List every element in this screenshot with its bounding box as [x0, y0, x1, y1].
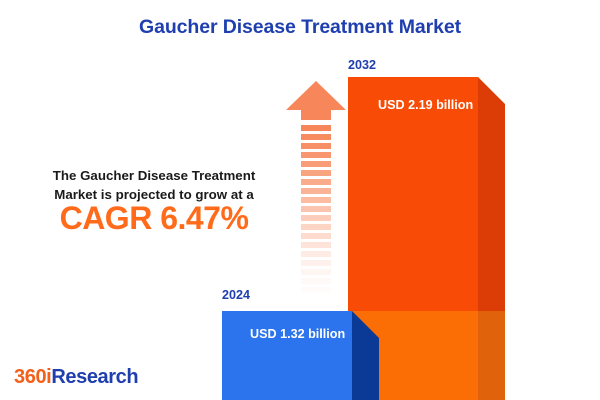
bar-2024 [222, 311, 394, 400]
bar-value-2024: USD 1.32 billion [250, 327, 345, 341]
brand-logo[interactable]: 360iResearch [14, 366, 138, 389]
brand-logo-360i: 360i [14, 366, 51, 388]
callout-line-1: The Gaucher Disease Treatment [22, 166, 286, 185]
cagr-value: CAGR 6.47% [18, 200, 290, 237]
brand-logo-research: Research [51, 366, 138, 388]
page-title: Gaucher Disease Treatment Market [0, 16, 600, 39]
bar-label-2024: 2024 [222, 288, 250, 302]
infographic-canvas: Gaucher Disease Treatment Market The Gau… [0, 0, 600, 400]
callout-text: The Gaucher Disease Treatment Market is … [22, 166, 286, 204]
bar-label-2032: 2032 [348, 58, 376, 72]
growth-arrow-icon [285, 80, 347, 292]
bar-value-2032: USD 2.19 billion [378, 98, 473, 112]
